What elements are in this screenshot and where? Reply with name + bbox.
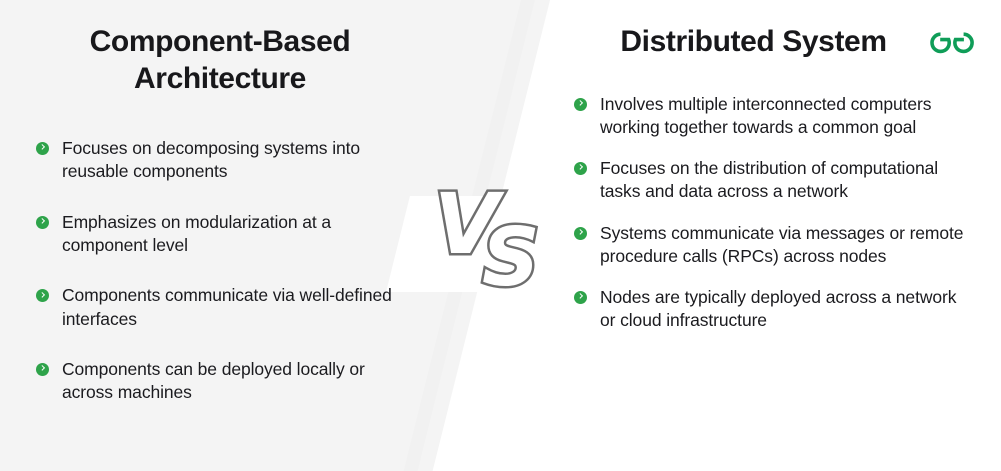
list-item: Emphasizes on modularization at a compon…: [36, 211, 404, 258]
chevron-circle-icon: [574, 98, 587, 111]
list-item: Focuses on the distribution of computati…: [574, 157, 971, 204]
geeksforgeeks-logo: [921, 22, 983, 56]
right-column-bullet-list: Involves multiple interconnected compute…: [574, 93, 971, 333]
chevron-circle-icon: [574, 162, 587, 175]
list-item-text: Focuses on the distribution of computati…: [600, 157, 971, 204]
list-item: Nodes are typically deployed across a ne…: [574, 286, 971, 333]
list-item-text: Focuses on decomposing systems into reus…: [62, 137, 404, 184]
list-item: Components can be deployed locally or ac…: [36, 358, 404, 405]
list-item-text: Components communicate via well-defined …: [62, 284, 404, 331]
chevron-circle-icon: [36, 142, 49, 155]
list-item-text: Components can be deployed locally or ac…: [62, 358, 404, 405]
left-column: Component-Based Architecture Focuses on …: [0, 0, 440, 471]
list-item-text: Systems communicate via messages or remo…: [600, 222, 971, 269]
list-item: Involves multiple interconnected compute…: [574, 93, 971, 140]
left-column-bullet-list: Focuses on decomposing systems into reus…: [36, 137, 404, 404]
list-item: Components communicate via well-defined …: [36, 284, 404, 331]
list-item: Systems communicate via messages or remo…: [574, 222, 971, 269]
list-item: Focuses on decomposing systems into reus…: [36, 137, 404, 184]
list-item-text: Involves multiple interconnected compute…: [600, 93, 971, 140]
list-item-text: Nodes are typically deployed across a ne…: [600, 286, 971, 333]
chevron-circle-icon: [36, 216, 49, 229]
chevron-circle-icon: [574, 291, 587, 304]
left-column-title: Component-Based Architecture: [36, 24, 404, 97]
right-column: Distributed System Involves multiple int…: [560, 0, 1001, 471]
chevron-circle-icon: [574, 227, 587, 240]
chevron-circle-icon: [36, 363, 49, 376]
comparison-infographic: Component-Based Architecture Focuses on …: [0, 0, 1001, 471]
right-column-title: Distributed System: [574, 24, 971, 61]
chevron-circle-icon: [36, 289, 49, 302]
list-item-text: Emphasizes on modularization at a compon…: [62, 211, 404, 258]
